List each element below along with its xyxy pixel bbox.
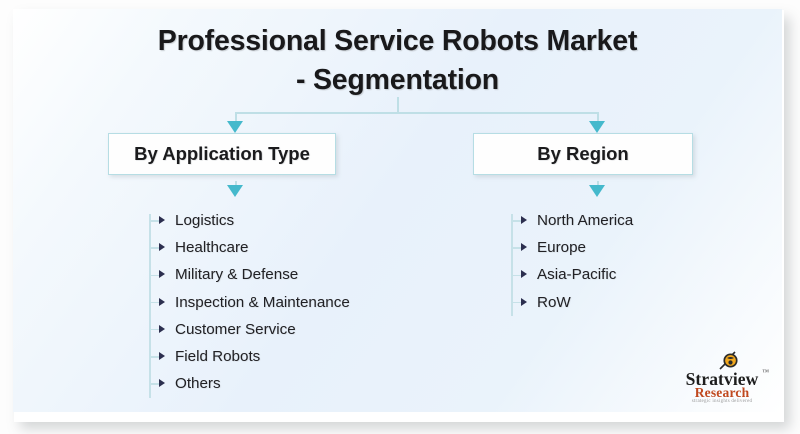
list-item[interactable]: Europe — [511, 234, 633, 261]
list-item[interactable]: Asia-Pacific — [511, 261, 633, 288]
list-tick — [149, 275, 159, 276]
company-logo[interactable]: Stratview ™ Research strategic insights … — [674, 349, 770, 407]
list-item[interactable]: Field Robots — [149, 343, 350, 370]
list-item-label: Asia-Pacific — [527, 266, 616, 283]
list-tick — [511, 275, 521, 276]
region-list: North America Europe Asia-Pacific RoW — [511, 207, 633, 316]
triangle-bullet-icon — [521, 243, 527, 251]
connector-horizontal-bus — [235, 112, 599, 114]
triangle-bullet-icon — [159, 352, 165, 360]
list-item-label: North America — [527, 212, 633, 229]
connector-root-stem — [397, 97, 399, 113]
list-item-label: Field Robots — [165, 348, 260, 365]
segment-box-application-type[interactable]: By Application Type — [108, 133, 336, 175]
arrow-down-icon-to-region-box — [589, 121, 605, 133]
list-item-label: Military & Defense — [165, 266, 298, 283]
triangle-bullet-icon — [521, 216, 527, 224]
list-item-label: Others — [165, 375, 221, 392]
segment-box-region-label: By Region — [537, 143, 628, 165]
list-item[interactable]: Inspection & Maintenance — [149, 289, 350, 316]
page-title-line-1: Professional Service Robots Market — [158, 25, 637, 57]
list-item-label: Customer Service — [165, 321, 296, 338]
triangle-bullet-icon — [159, 243, 165, 251]
list-item-label: Healthcare — [165, 239, 248, 256]
triangle-bullet-icon — [521, 298, 527, 306]
triangle-bullet-icon — [159, 270, 165, 278]
triangle-bullet-icon — [159, 379, 165, 387]
logo-tagline: strategic insights delivered — [674, 399, 770, 404]
list-item[interactable]: Customer Service — [149, 316, 350, 343]
list-item[interactable]: RoW — [511, 289, 633, 316]
list-item[interactable]: Military & Defense — [149, 261, 350, 288]
triangle-bullet-icon — [159, 298, 165, 306]
list-item[interactable]: Healthcare — [149, 234, 350, 261]
arrow-down-icon-to-region-list — [589, 185, 605, 197]
list-item-label: Inspection & Maintenance — [165, 294, 350, 311]
list-item[interactable]: Logistics — [149, 207, 350, 234]
page-title: Professional Service Robots Market - Seg… — [13, 22, 782, 100]
logo-trademark: ™ — [762, 368, 769, 376]
list-tick — [149, 383, 159, 384]
arrow-down-icon-to-application-box — [227, 121, 243, 133]
list-tick — [511, 302, 521, 303]
list-item[interactable]: North America — [511, 207, 633, 234]
segment-box-region[interactable]: By Region — [473, 133, 693, 175]
list-tick — [511, 220, 521, 221]
triangle-bullet-icon — [159, 216, 165, 224]
triangle-bullet-icon — [521, 270, 527, 278]
segment-box-application-type-label: By Application Type — [134, 143, 310, 165]
list-item-label: Logistics — [165, 212, 234, 229]
list-tick — [149, 329, 159, 330]
page-title-line-2: - Segmentation — [13, 61, 782, 100]
list-tick — [511, 247, 521, 248]
diagram-canvas: Professional Service Robots Market - Seg… — [13, 9, 782, 412]
application-type-list: Logistics Healthcare Military & Defense … — [149, 207, 350, 397]
arrow-down-icon-to-application-list — [227, 185, 243, 197]
list-tick — [149, 220, 159, 221]
list-tick — [149, 247, 159, 248]
list-item-label: RoW — [527, 294, 571, 311]
list-tick — [149, 302, 159, 303]
image-frame: Professional Service Robots Market - Seg… — [0, 0, 800, 434]
list-item-label: Europe — [527, 239, 586, 256]
list-item[interactable]: Others — [149, 370, 350, 397]
list-tick — [149, 356, 159, 357]
triangle-bullet-icon — [159, 325, 165, 333]
